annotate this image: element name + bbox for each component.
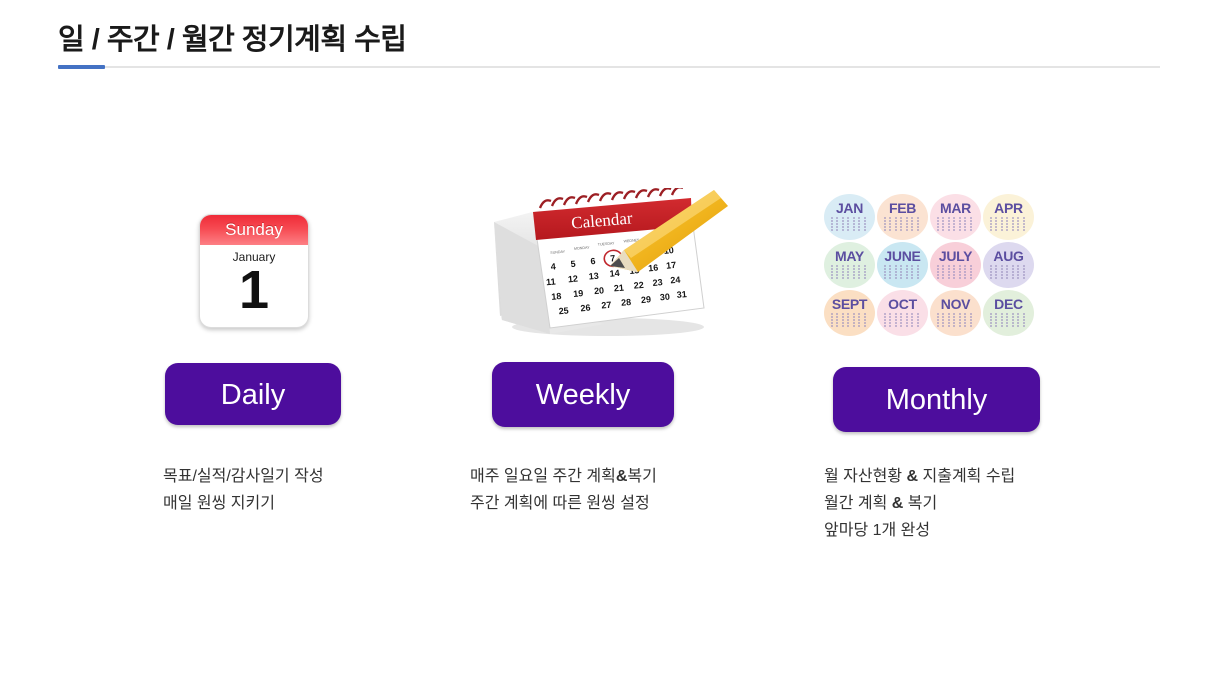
month-mini-grid [990, 265, 1028, 279]
month-mini-grid [937, 217, 975, 231]
icon-slot-weekly: Calendar SUNDAYMONDAY TUESDAYWEDNES THUR… [468, 180, 733, 345]
caption-line: 앞마당 1개 완성 [824, 517, 1015, 544]
month-circle-july: JULY [930, 242, 981, 288]
svg-text:16: 16 [648, 262, 659, 273]
icon-slot-daily: Sunday January 1 [155, 180, 415, 345]
svg-text:25: 25 [558, 305, 569, 316]
svg-text:21: 21 [613, 283, 624, 294]
svg-text:26: 26 [580, 303, 591, 314]
caption-line: 주간 계획에 따른 원씽 설정 [470, 490, 657, 517]
month-circle-june: JUNE [877, 242, 928, 288]
month-circle-dec: DEC [983, 290, 1034, 336]
month-mini-grid [937, 265, 975, 279]
svg-text:11: 11 [546, 276, 556, 287]
svg-text:20: 20 [594, 285, 605, 296]
desk-calendar-pencil-icon: Calendar SUNDAYMONDAY TUESDAYWEDNES THUR… [478, 188, 728, 343]
monthly-button[interactable]: Monthly [833, 367, 1040, 432]
month-circle-feb: FEB [877, 194, 928, 240]
daily-button[interactable]: Daily [165, 363, 341, 425]
caption-line: 월 자산현황 & 지출계획 수립 [824, 463, 1015, 490]
caption-line: 목표/실적/감사일기 작성 [163, 463, 324, 490]
calendar-day-number: 1 [200, 261, 308, 319]
svg-text:27: 27 [601, 300, 612, 311]
caption-line: 월간 계획 & 복기 [824, 490, 1015, 517]
svg-text:6: 6 [590, 256, 596, 266]
month-label: JULY [939, 249, 972, 263]
month-circle-jan: JAN [824, 194, 875, 240]
month-circle-aug: AUG [983, 242, 1034, 288]
caption-line: 매주 일요일 주간 계획&복기 [470, 463, 657, 490]
month-label: NOV [941, 297, 970, 311]
month-mini-grid [831, 313, 869, 327]
month-circle-mar: MAR [930, 194, 981, 240]
month-mini-grid [884, 217, 922, 231]
captions-monthly: 월 자산현황 & 지출계획 수립월간 계획 & 복기앞마당 1개 완성 [824, 463, 1015, 544]
month-label: MAR [940, 201, 971, 215]
month-mini-grid [831, 265, 869, 279]
page-title: 일 / 주간 / 월간 정기계획 수립 [58, 16, 406, 58]
column-weekly: Calendar SUNDAYMONDAY TUESDAYWEDNES THUR… [468, 180, 733, 345]
month-circle-oct: OCT [877, 290, 928, 336]
calendar-weekday-label: Sunday [200, 215, 308, 245]
svg-text:31: 31 [676, 289, 687, 300]
month-circle-nov: NOV [930, 290, 981, 336]
year-months-circles-icon: JANFEBMARAPRMAYJUNEJULYAUGSEPTOCTNOVDEC [824, 194, 1034, 336]
month-label: JUNE [884, 249, 920, 263]
svg-text:18: 18 [551, 291, 562, 302]
title-accent-bar [58, 65, 105, 69]
month-label: MAY [835, 249, 864, 263]
title-divider [58, 66, 1160, 68]
desk-calendar-svg: Calendar SUNDAYMONDAY TUESDAYWEDNES THUR… [478, 188, 728, 343]
month-mini-grid [831, 217, 869, 231]
svg-text:28: 28 [621, 297, 632, 308]
svg-text:29: 29 [641, 294, 652, 305]
calendar-day-icon: Sunday January 1 [199, 214, 309, 328]
svg-text:17: 17 [666, 260, 677, 271]
month-label: DEC [994, 297, 1023, 311]
svg-text:22: 22 [633, 280, 644, 291]
month-mini-grid [884, 265, 922, 279]
column-daily: Sunday January 1 [155, 180, 415, 345]
svg-text:30: 30 [659, 292, 670, 303]
month-mini-grid [884, 313, 922, 327]
month-mini-grid [990, 313, 1028, 327]
month-label: FEB [889, 201, 916, 215]
svg-text:4: 4 [550, 261, 556, 271]
month-circle-sept: SEPT [824, 290, 875, 336]
svg-text:13: 13 [588, 271, 599, 282]
svg-text:5: 5 [570, 259, 576, 269]
month-mini-grid [990, 217, 1028, 231]
svg-text:24: 24 [670, 275, 681, 286]
month-label: OCT [888, 297, 917, 311]
month-label: JAN [836, 201, 863, 215]
month-mini-grid [937, 313, 975, 327]
column-monthly: JANFEBMARAPRMAYJUNEJULYAUGSEPTOCTNOVDEC [812, 180, 1112, 345]
caption-line: 매일 원씽 지키기 [163, 490, 324, 517]
month-label: AUG [993, 249, 1023, 263]
captions-weekly: 매주 일요일 주간 계획&복기주간 계획에 따른 원씽 설정 [470, 463, 657, 517]
month-circle-apr: APR [983, 194, 1034, 240]
month-label: SEPT [832, 297, 867, 311]
icon-slot-monthly: JANFEBMARAPRMAYJUNEJULYAUGSEPTOCTNOVDEC [812, 180, 1112, 345]
svg-text:12: 12 [567, 274, 578, 285]
svg-text:14: 14 [609, 268, 620, 279]
weekly-button[interactable]: Weekly [492, 362, 674, 427]
month-circle-may: MAY [824, 242, 875, 288]
month-label: APR [994, 201, 1023, 215]
svg-text:23: 23 [652, 277, 663, 288]
svg-text:19: 19 [573, 288, 584, 299]
captions-daily: 목표/실적/감사일기 작성매일 원씽 지키기 [163, 463, 324, 517]
